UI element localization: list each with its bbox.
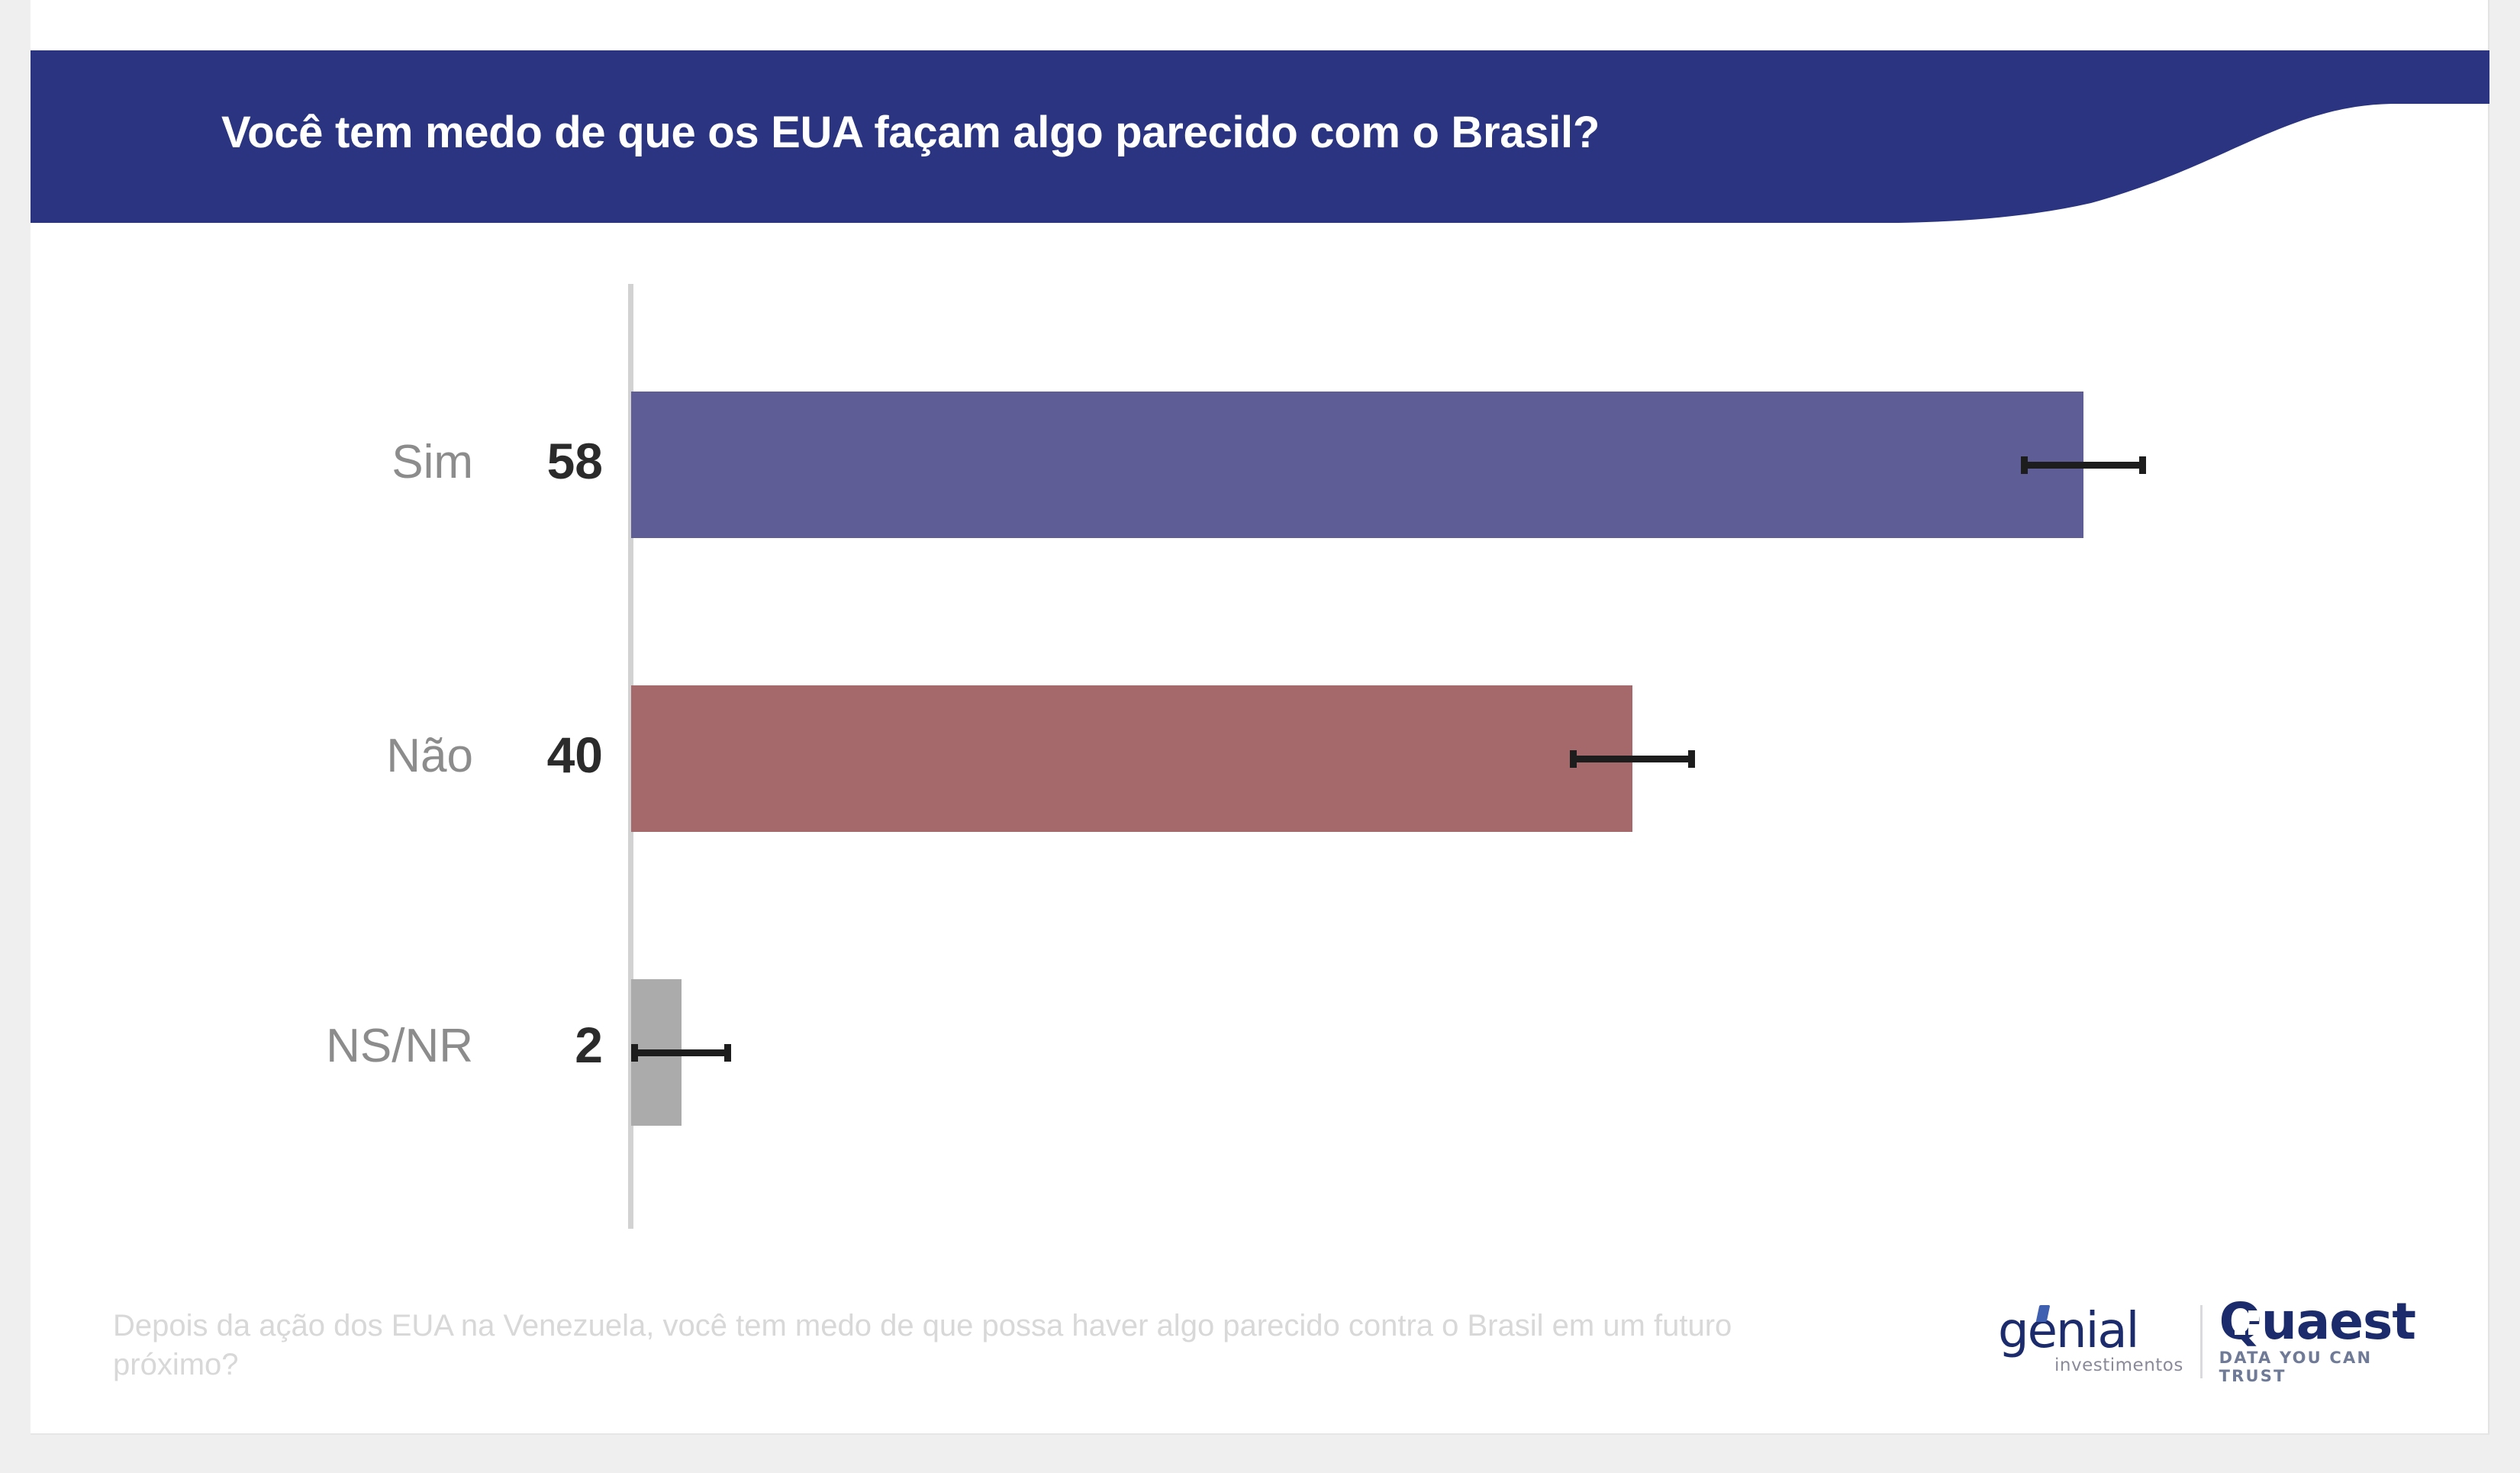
genial-logo: genial investimentos — [1998, 1308, 2183, 1376]
page-bottom-gutter — [0, 1435, 2520, 1473]
quaest-rest-letters: uaest — [2261, 1292, 2415, 1351]
page-left-gutter — [0, 0, 31, 1473]
page-title: Você tem medo de que os EUA façam algo p… — [221, 107, 1600, 158]
quaest-logo: Quaest DATA YOU CAN TRUST — [2219, 1298, 2430, 1386]
logo-group: genial investimentos Quaest DATA YOU CAN… — [1998, 1293, 2430, 1391]
page-right-gutter — [2489, 0, 2520, 1473]
quaest-q-grid-icon — [2235, 1310, 2261, 1336]
logo-divider — [2200, 1305, 2203, 1378]
genial-wordmark: genial — [1998, 1308, 2183, 1355]
footer-question-note: Depois da ação dos EUA na Venezuela, voc… — [113, 1307, 1792, 1384]
quaest-tagline: DATA YOU CAN TRUST — [2219, 1349, 2430, 1385]
